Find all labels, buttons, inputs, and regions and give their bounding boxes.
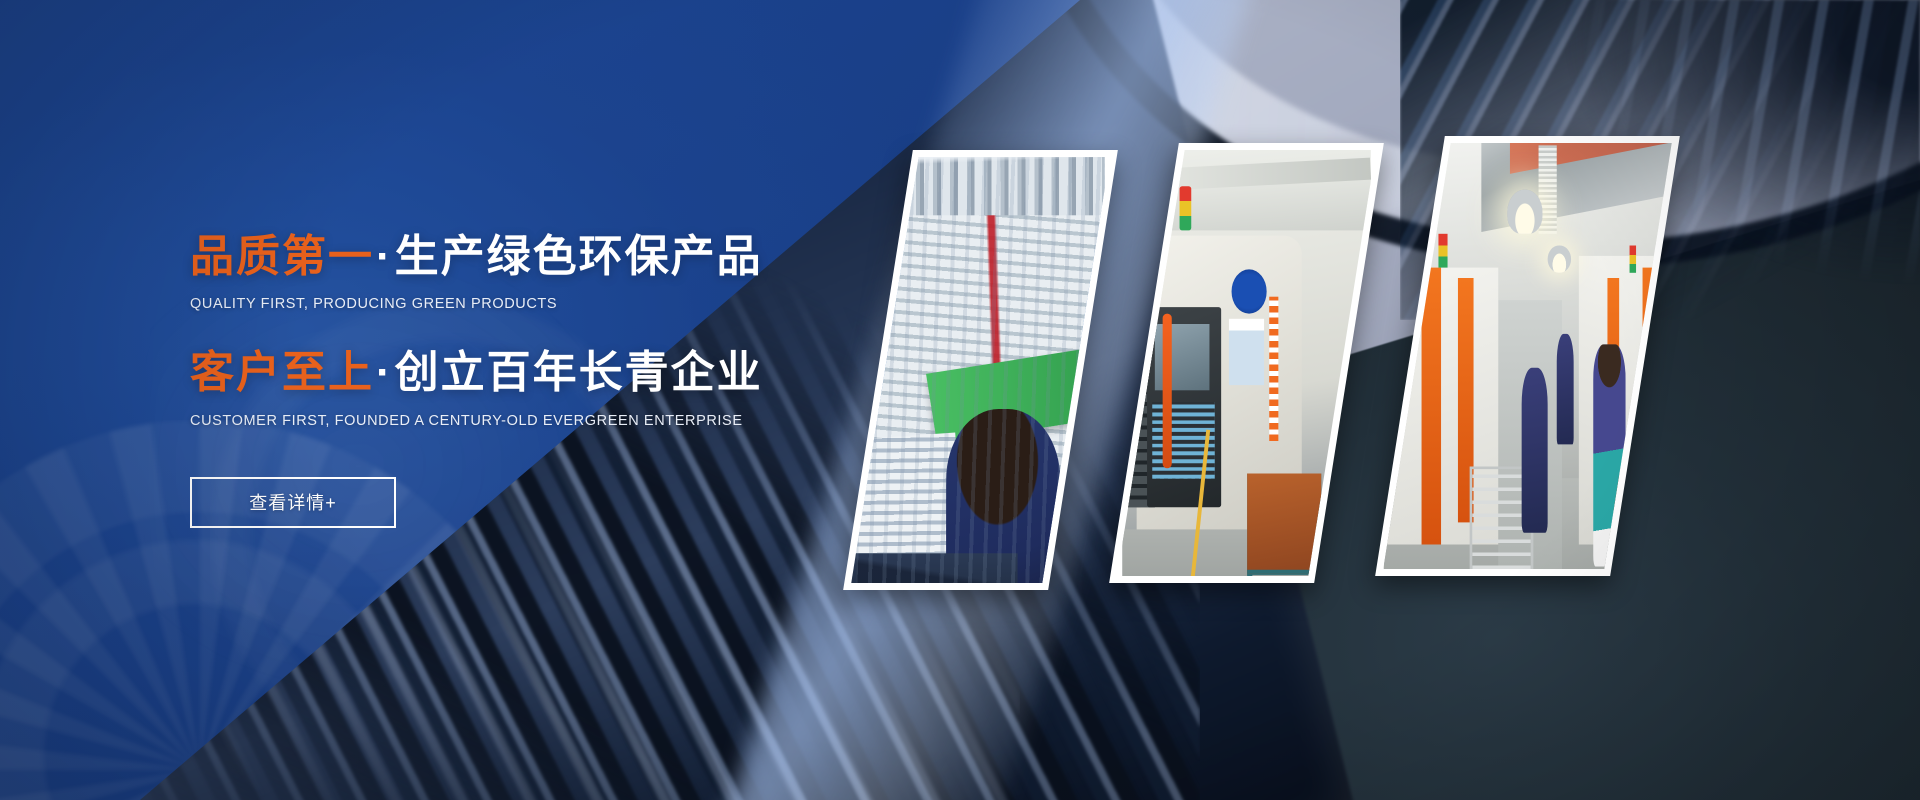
photo3-worker-3 xyxy=(1556,334,1573,445)
photo1-foreground xyxy=(851,553,1017,583)
photo3-pendant-lamp-2 xyxy=(1548,245,1571,273)
photo3-pendant-lamp xyxy=(1507,190,1541,234)
photo2-orange-handle xyxy=(1162,313,1172,468)
photo3-orange-door-right xyxy=(1642,267,1662,533)
photo-tile-1-frame xyxy=(851,157,1109,583)
photo3-orange-door-left xyxy=(1421,267,1441,544)
photo3-worker-1 xyxy=(1522,367,1548,533)
photo-factory-aisle xyxy=(1384,143,1671,569)
photo2-worktable xyxy=(1247,474,1321,574)
photo-tile-2-frame xyxy=(1117,150,1375,576)
photo1-ceiling xyxy=(856,157,1104,215)
photo-tile-1[interactable] xyxy=(843,150,1118,590)
photo-tile-3-frame xyxy=(1383,143,1671,569)
photo-cnc-machines xyxy=(1122,150,1370,576)
photo3-signal-tower-2 xyxy=(1630,245,1637,273)
photo1-conveyor xyxy=(926,344,1109,445)
photo3-signal-tower xyxy=(1438,234,1447,267)
photo-gallery xyxy=(0,0,1920,800)
photo2-poster xyxy=(1229,319,1264,385)
photo2-blue-badge xyxy=(1232,269,1267,313)
photo2-orange-strip xyxy=(1269,297,1279,441)
photo-tile-3[interactable] xyxy=(1375,136,1680,576)
photo-assembly-line xyxy=(856,157,1104,583)
photo2-signal-tower xyxy=(1179,186,1191,230)
hero-banner: 品质第一·生产绿色环保产品 QUALITY FIRST, PRODUCING G… xyxy=(0,0,1920,800)
photo1-trays xyxy=(851,433,965,583)
photo3-worker-2 xyxy=(1594,345,1626,567)
photo1-worker xyxy=(946,409,1060,583)
photo-tile-2[interactable] xyxy=(1109,143,1384,583)
